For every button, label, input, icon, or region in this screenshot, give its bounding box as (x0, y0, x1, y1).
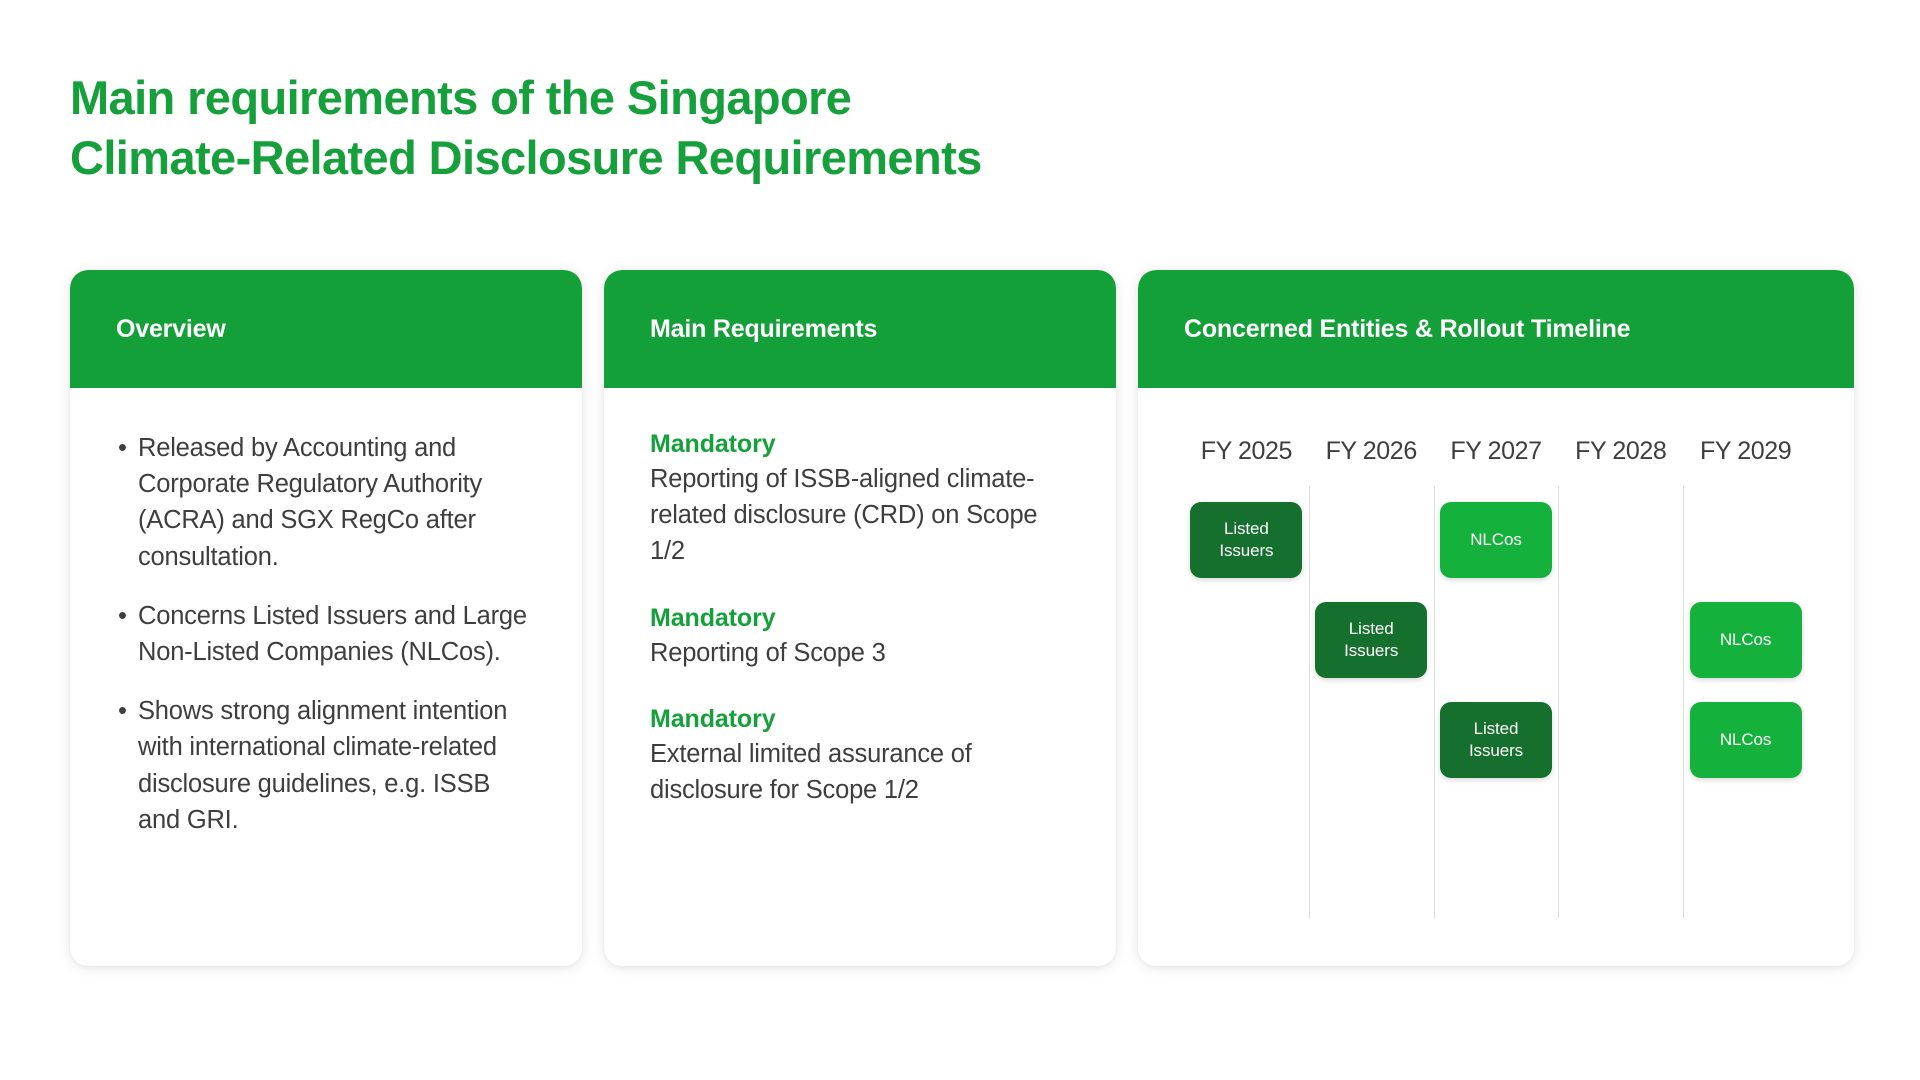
timeline-column-fy2026: FY 2026 Listed Issuers (1309, 434, 1434, 936)
entity-chip-line-2: Issuers (1344, 640, 1398, 662)
requirement-block: Mandatory Reporting of Scope 3 (650, 604, 1070, 671)
entity-chip-line-1: Listed (1224, 518, 1269, 540)
rollout-timeline: FY 2025 Listed Issuers (1184, 430, 1808, 936)
timeline-slot (1565, 502, 1677, 578)
card-main-requirements-body: Mandatory Reporting of ISSB-aligned clim… (604, 388, 1116, 966)
timeline-slot: Listed Issuers (1440, 702, 1552, 778)
page-title-line-1: Main requirements of the Singapore (70, 68, 1370, 128)
timeline-slots: Listed Issuers (1184, 484, 1309, 778)
timeline-slots: NLCos NLCos (1683, 484, 1808, 778)
timeline-slot (1190, 702, 1302, 778)
entity-chip-line-1: NLCos (1720, 729, 1771, 751)
timeline-year-label: FY 2027 (1450, 434, 1541, 484)
timeline-column-fy2029: FY 2029 NLCos NLCos (1683, 434, 1808, 936)
timeline-slot: NLCos (1690, 602, 1802, 678)
bullet-marker-icon: • (118, 598, 127, 634)
timeline-slots: NLCos Listed Issuers (1434, 484, 1559, 778)
timeline-slot (1190, 602, 1302, 678)
timeline-slot (1440, 602, 1552, 678)
list-item: • Concerns Listed Issuers and Large Non-… (116, 598, 536, 670)
card-timeline: Concerned Entities & Rollout Timeline FY… (1138, 270, 1854, 966)
card-timeline-header: Concerned Entities & Rollout Timeline (1138, 270, 1854, 388)
timeline-column-fy2027: FY 2027 NLCos Listed I (1434, 434, 1559, 936)
entity-chip-listed-issuers[interactable]: Listed Issuers (1315, 602, 1427, 678)
requirement-text: Reporting of Scope 3 (650, 635, 1070, 671)
timeline-slot (1565, 602, 1677, 678)
card-overview: Overview • Released by Accounting and Co… (70, 270, 582, 966)
status-badge: Mandatory (650, 604, 1070, 633)
timeline-slot (1690, 502, 1802, 578)
timeline-year-label: FY 2025 (1201, 434, 1292, 484)
entity-chip-line-2: Issuers (1469, 740, 1523, 762)
requirement-text: Reporting of ISSB-aligned climate-relate… (650, 461, 1070, 570)
list-item: • Shows strong alignment intention with … (116, 693, 536, 838)
card-timeline-heading: Concerned Entities & Rollout Timeline (1184, 315, 1630, 344)
bullet-marker-icon: • (118, 693, 127, 729)
card-overview-header: Overview (70, 270, 582, 388)
entity-chip-line-2: Issuers (1219, 540, 1273, 562)
timeline-year-label: FY 2028 (1575, 434, 1666, 484)
slide-canvas: Main requirements of the Singapore Clima… (0, 0, 1920, 1080)
card-main-requirements: Main Requirements Mandatory Reporting of… (604, 270, 1116, 966)
entity-chip-nlcos[interactable]: NLCos (1440, 502, 1552, 578)
card-overview-body: • Released by Accounting and Corporate R… (70, 388, 582, 966)
entity-chip-line-1: Listed (1349, 618, 1394, 640)
list-item-text: Shows strong alignment intention with in… (138, 697, 507, 834)
card-main-requirements-heading: Main Requirements (650, 315, 877, 344)
cards-row: Overview • Released by Accounting and Co… (70, 270, 1860, 966)
entity-chip-nlcos[interactable]: NLCos (1690, 702, 1802, 778)
timeline-slot: NLCos (1690, 702, 1802, 778)
entity-chip-line-1: NLCos (1470, 529, 1521, 551)
card-overview-heading: Overview (116, 315, 226, 344)
timeline-year-label: FY 2026 (1326, 434, 1417, 484)
timeline-slot: NLCos (1440, 502, 1552, 578)
card-timeline-body: FY 2025 Listed Issuers (1138, 388, 1854, 966)
list-item: • Released by Accounting and Corporate R… (116, 430, 536, 575)
timeline-slot: Listed Issuers (1315, 602, 1427, 678)
timeline-column-fy2028: FY 2028 (1558, 434, 1683, 936)
requirement-text: External limited assurance of disclosure… (650, 736, 1070, 808)
entity-chip-listed-issuers[interactable]: Listed Issuers (1190, 502, 1302, 578)
timeline-slot (1565, 702, 1677, 778)
requirement-block: Mandatory External limited assurance of … (650, 705, 1070, 808)
timeline-year-label: FY 2029 (1700, 434, 1791, 484)
entity-chip-listed-issuers[interactable]: Listed Issuers (1440, 702, 1552, 778)
page-title: Main requirements of the Singapore Clima… (70, 68, 1370, 188)
list-item-text: Released by Accounting and Corporate Reg… (138, 434, 482, 571)
entity-chip-line-1: Listed (1474, 718, 1519, 740)
bullet-marker-icon: • (118, 430, 127, 466)
entity-chip-line-1: NLCos (1720, 629, 1771, 651)
timeline-slot (1315, 502, 1427, 578)
card-main-requirements-header: Main Requirements (604, 270, 1116, 388)
page-title-line-2: Climate-Related Disclosure Requirements (70, 128, 1370, 188)
timeline-slots (1558, 484, 1683, 778)
timeline-slots: Listed Issuers (1309, 484, 1434, 778)
list-item-text: Concerns Listed Issuers and Large Non-Li… (138, 602, 527, 666)
status-badge: Mandatory (650, 705, 1070, 734)
timeline-slot (1315, 702, 1427, 778)
status-badge: Mandatory (650, 430, 1070, 459)
timeline-slot: Listed Issuers (1190, 502, 1302, 578)
timeline-column-fy2025: FY 2025 Listed Issuers (1184, 434, 1309, 936)
overview-bullet-list: • Released by Accounting and Corporate R… (116, 430, 536, 838)
entity-chip-nlcos[interactable]: NLCos (1690, 602, 1802, 678)
requirement-block: Mandatory Reporting of ISSB-aligned clim… (650, 430, 1070, 570)
